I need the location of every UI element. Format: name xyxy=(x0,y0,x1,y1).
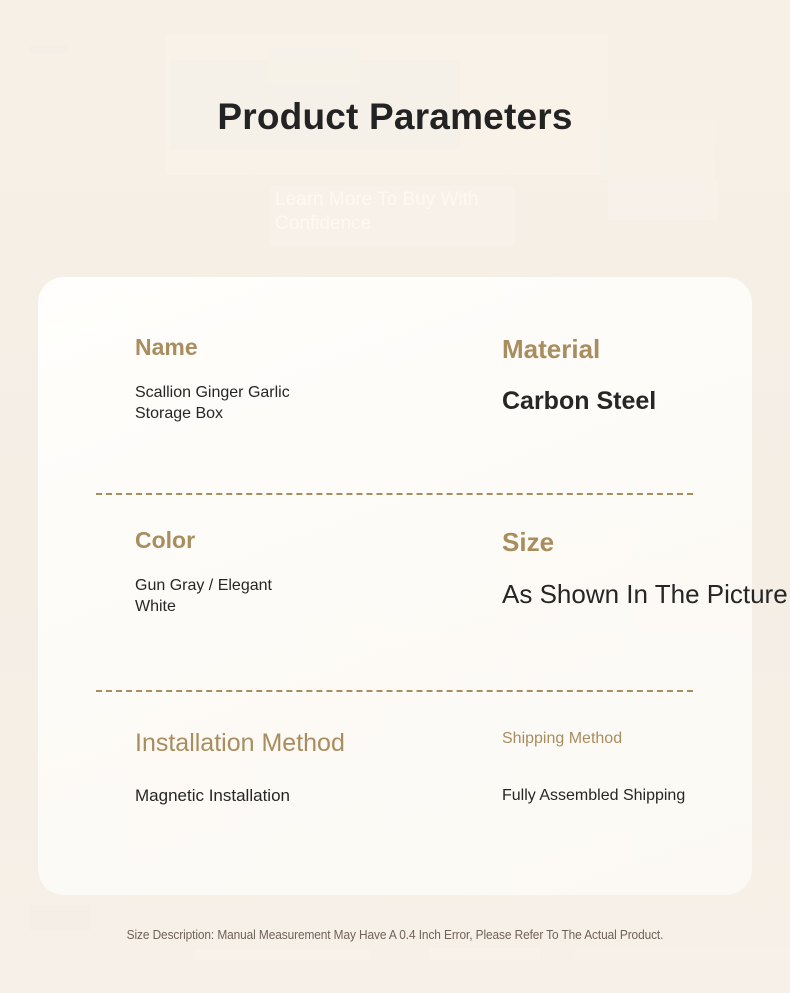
parameter-value: Fully Assembled Shipping xyxy=(502,785,790,806)
row-divider xyxy=(96,493,693,495)
page-subtitle: Learn More To Buy With Confidence xyxy=(275,188,515,236)
background-ghost-block xyxy=(430,948,540,960)
parameter-label: Shipping Method xyxy=(502,730,790,748)
row-divider xyxy=(96,690,693,692)
background-ghost-block xyxy=(195,950,370,960)
size-description-note: Size Description: Manual Measurement May… xyxy=(20,928,771,942)
parameter-value: Scallion Ginger Garlic Storage Box xyxy=(135,382,343,424)
page-header: Product Parameters Learn More To Buy Wit… xyxy=(0,0,790,135)
parameter-label: Installation Method xyxy=(135,730,445,758)
parameter-label: Material xyxy=(502,335,790,364)
parameter-row: Installation Method Magnetic Installatio… xyxy=(38,730,752,885)
parameter-field-name: Name Scallion Ginger Garlic Storage Box xyxy=(135,335,445,425)
parameter-label: Name xyxy=(135,335,445,360)
page-title: Product Parameters xyxy=(0,0,790,135)
page-background: Product Parameters Learn More To Buy Wit… xyxy=(0,0,790,993)
parameter-field-installation-method: Installation Method Magnetic Installatio… xyxy=(135,730,445,807)
parameter-value: Carbon Steel xyxy=(502,385,790,418)
background-ghost-block xyxy=(608,180,718,220)
parameter-field-color: Color Gun Gray / Elegant White xyxy=(135,528,445,618)
parameter-label: Color xyxy=(135,528,445,553)
parameter-value: Gun Gray / Elegant White xyxy=(135,575,295,617)
parameter-value: As Shown In The Picture xyxy=(502,577,790,611)
background-ghost-block xyxy=(30,905,90,930)
parameter-field-shipping-method: Shipping Method Fully Assembled Shipping xyxy=(502,730,790,806)
parameter-row: Name Scallion Ginger Garlic Storage Box … xyxy=(38,335,752,490)
parameter-value: Magnetic Installation xyxy=(135,785,445,807)
product-parameters-card: Name Scallion Ginger Garlic Storage Box … xyxy=(38,277,752,895)
background-ghost-block xyxy=(575,948,790,960)
parameter-label: Size xyxy=(502,528,790,557)
parameter-field-size: Size As Shown In The Picture xyxy=(502,528,790,611)
parameter-field-material: Material Carbon Steel xyxy=(502,335,790,418)
parameter-row: Color Gun Gray / Elegant White Size As S… xyxy=(38,528,752,683)
